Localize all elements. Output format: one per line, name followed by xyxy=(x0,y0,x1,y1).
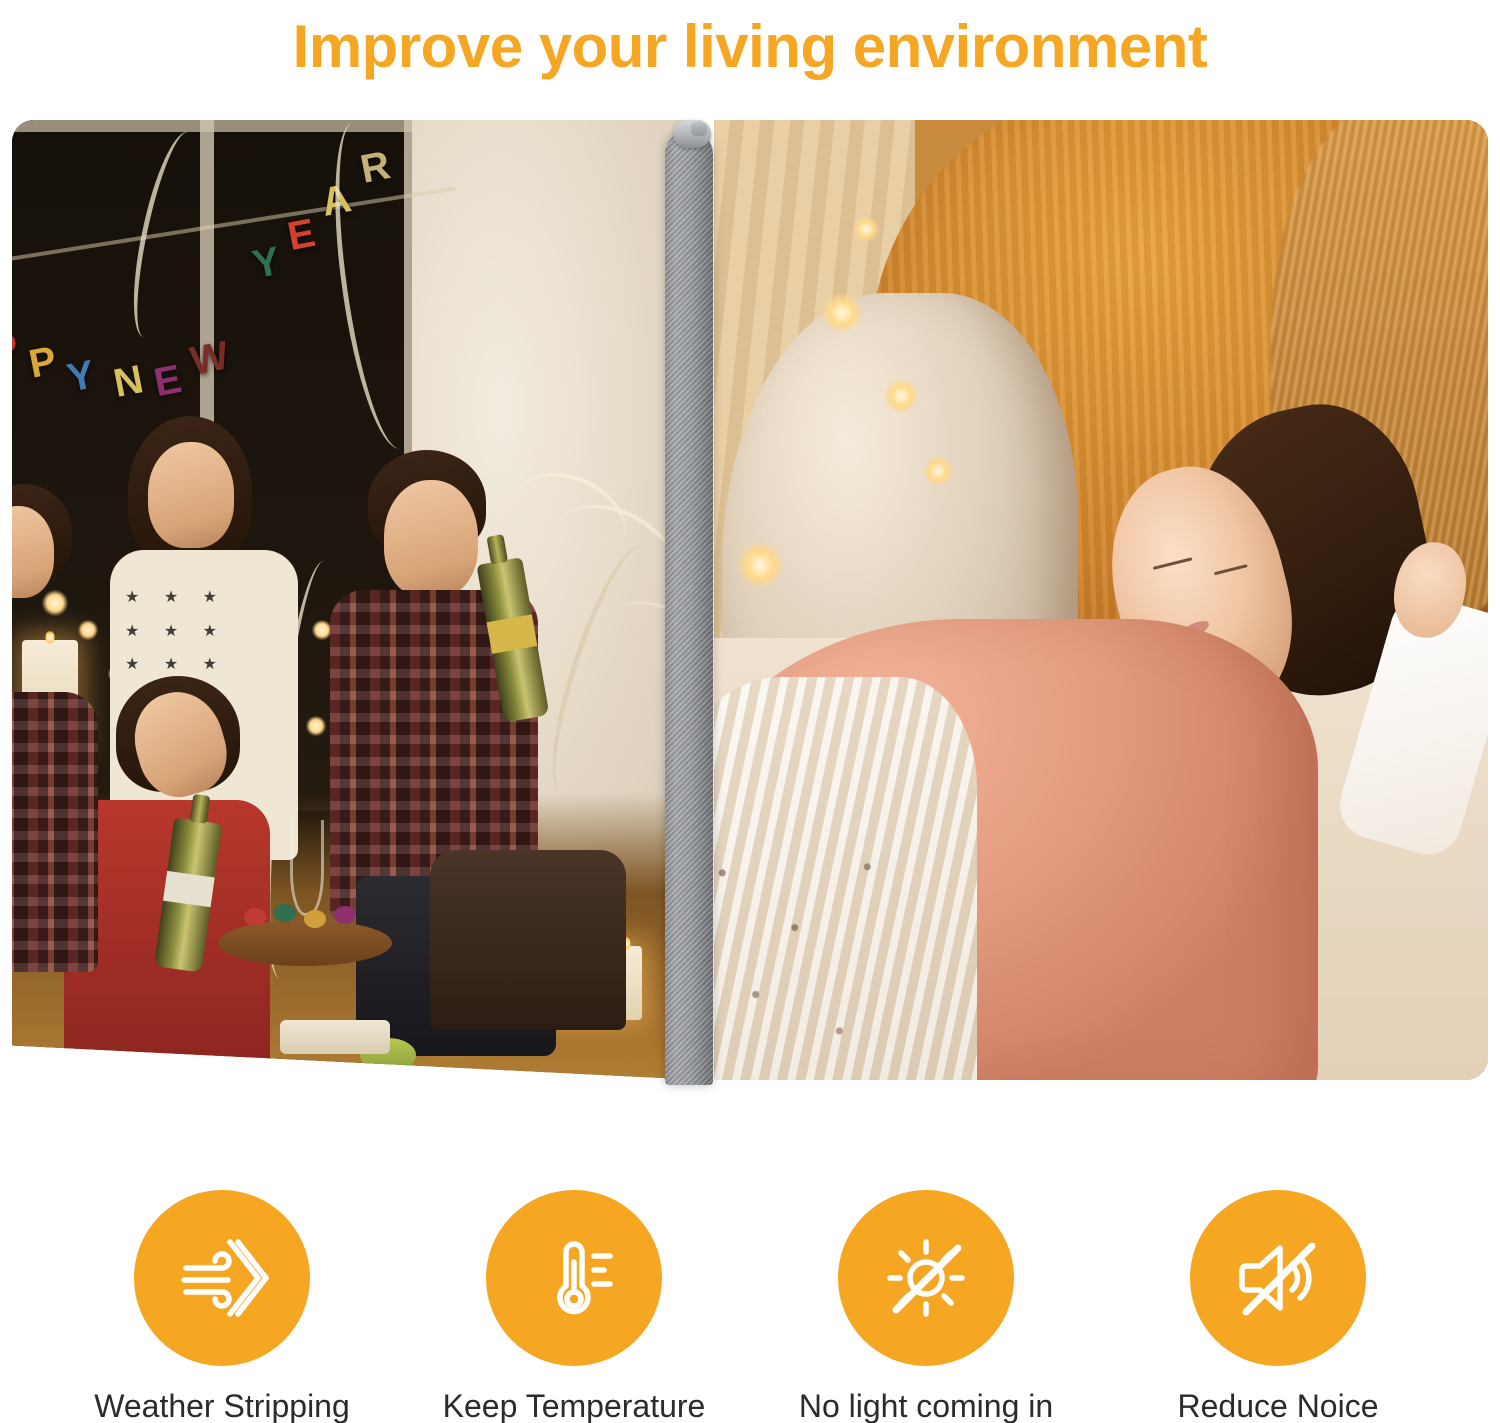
feature-reduce-noise: Reduce Noice xyxy=(1118,1190,1438,1423)
sun-slash-icon xyxy=(876,1228,976,1328)
fairy-light xyxy=(923,456,953,486)
candy xyxy=(274,904,296,922)
speaker-mute-icon xyxy=(1228,1228,1328,1328)
feature-keep-temperature: Keep Temperature xyxy=(414,1190,734,1423)
candy xyxy=(244,908,266,926)
knit-throw xyxy=(714,677,977,1080)
feature-no-light: No light coming in xyxy=(766,1190,1086,1423)
fairy-light xyxy=(312,620,332,640)
wind-arrow-icon xyxy=(172,1228,272,1328)
weather-strip-product xyxy=(665,120,713,1085)
fairy-light xyxy=(822,293,862,333)
champagne-flute xyxy=(290,820,324,916)
feature-label: Keep Temperature xyxy=(443,1388,706,1423)
feature-icon-circle xyxy=(134,1190,310,1366)
child-eye xyxy=(1153,557,1193,570)
product-feature-page: Improve your living environment P P Y N xyxy=(0,0,1500,1423)
fairy-light xyxy=(78,620,98,640)
photo-sleeping-child xyxy=(714,120,1488,1080)
feature-weather-stripping: Weather Stripping xyxy=(62,1190,382,1423)
plate xyxy=(280,1020,390,1054)
face xyxy=(148,442,234,548)
bottle-label xyxy=(163,871,215,907)
feature-label: Weather Stripping xyxy=(94,1388,350,1423)
feature-icon-circle xyxy=(486,1190,662,1366)
feature-label: No light coming in xyxy=(799,1388,1053,1423)
candy xyxy=(334,906,356,924)
weather-strip-cap xyxy=(673,120,711,148)
hero-photo-band: P P Y N E W Y E A R xyxy=(12,120,1488,1080)
face xyxy=(384,480,478,598)
fairy-light xyxy=(306,716,326,736)
page-title: Improve your living environment xyxy=(0,0,1500,92)
party-scene-artwork: P P Y N E W Y E A R xyxy=(12,120,702,1080)
snack-bowl xyxy=(218,920,392,966)
feature-icon-circle xyxy=(1190,1190,1366,1366)
weather-strip-body xyxy=(665,130,713,1085)
fairy-light xyxy=(42,590,68,616)
child-eye xyxy=(1214,564,1248,575)
torso xyxy=(12,692,98,972)
thermometer-icon xyxy=(524,1228,624,1328)
photo-party-scene: P P Y N E W Y E A R xyxy=(12,120,702,1080)
feature-icon-circle xyxy=(838,1190,1014,1366)
weather-strip-cap-knob xyxy=(691,122,707,136)
bottle-foil xyxy=(486,614,537,654)
feature-row: Weather Stripping Keep Temperature xyxy=(0,1190,1500,1423)
armchair xyxy=(430,850,626,1030)
candy xyxy=(304,910,326,928)
feature-label: Reduce Noice xyxy=(1178,1388,1379,1423)
